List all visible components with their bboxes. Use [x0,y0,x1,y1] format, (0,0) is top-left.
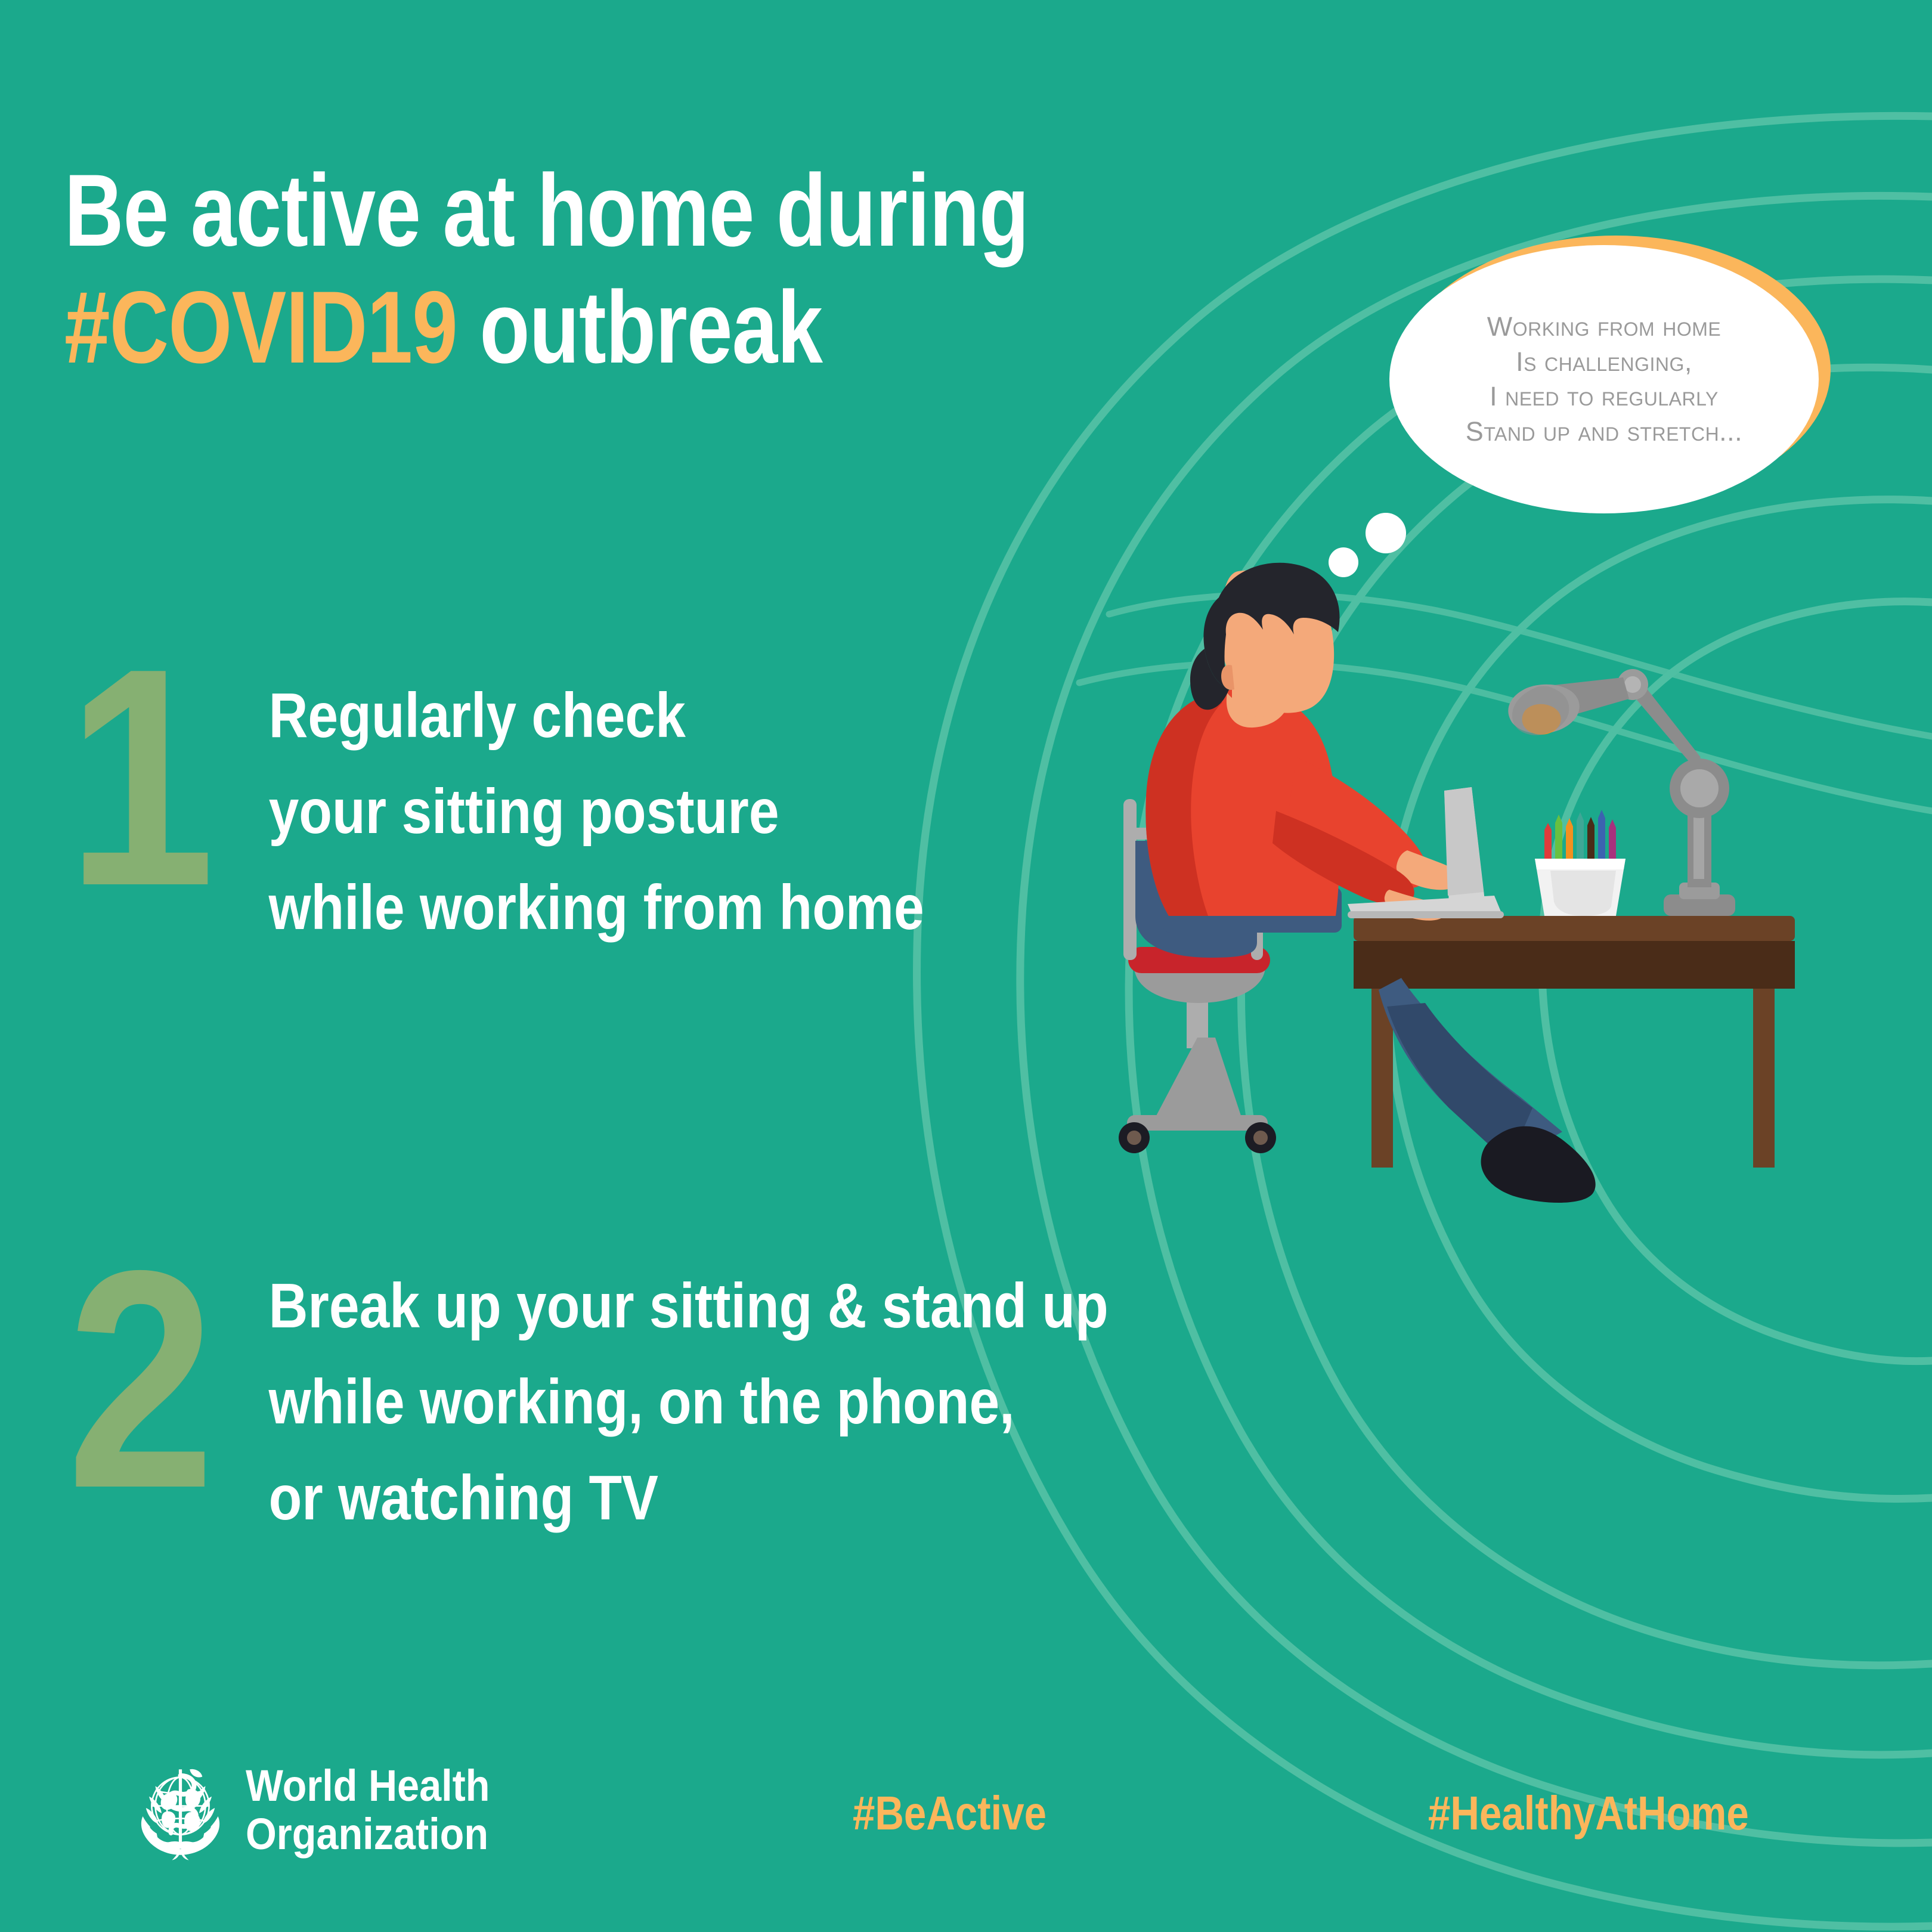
who-name-line-2: Organization [246,1810,490,1858]
tip-text-2: Break up your sitting & stand up while w… [264,1246,1109,1546]
tip-item-2: 2 Break up your sitting & stand up while… [67,1246,1246,1546]
person-head [1190,563,1340,717]
who-emblem-icon [128,1758,233,1862]
poster-canvas: Be active at home during #COVID19 outbre… [0,0,1932,1932]
tip-item-1: 1 Regularly check your sitting posture w… [67,644,1032,956]
bubble-line-3: I need to regularly [1490,379,1719,414]
colored-pencils [1544,810,1616,866]
hashtag-covid19: #COVID19 [64,270,457,385]
who-logo: World Health Organization [128,1747,510,1872]
thought-bubble-text: Working from home is challenging, I need… [1389,245,1819,513]
tip-2-line-2: while working, on the phone, [269,1354,1109,1450]
person-lower-body [1379,978,1596,1203]
who-wordmark: World Health Organization [246,1761,490,1859]
headline-line-2: #COVID19 outbreak [64,269,1066,386]
tip-1-line-2: your sitting posture [269,764,924,860]
tip-number-2: 2 [67,1246,236,1513]
tip-number-1: 1 [67,644,236,911]
headline-line-1: Be active at home during [64,152,1066,269]
tip-text-1: Regularly check your sitting posture whi… [264,644,924,956]
illustration-person-at-desk [1091,561,1795,1252]
who-name-line-1: World Health [246,1761,490,1810]
hashtag-beactive: #BeActive [853,1786,1046,1841]
bubble-line-4: stand up and stretch... [1466,414,1742,450]
headline-line-2-rest: outbreak [457,270,822,385]
tip-2-line-3: or watching TV [269,1450,1109,1546]
tip-2-line-1: Break up your sitting & stand up [269,1258,1109,1354]
page-title: Be active at home during #COVID19 outbre… [64,152,1066,386]
hashtag-healthyathome: #HealthyAtHome [1428,1786,1749,1841]
bubble-line-2: is challenging, [1516,345,1692,380]
pencil-cup [1535,810,1626,916]
thought-bubble: Working from home is challenging, I need… [1389,236,1849,534]
tip-1-line-1: Regularly check [269,668,924,764]
bubble-line-1: Working from home [1487,309,1721,345]
tip-1-line-3: while working from home [269,860,924,956]
